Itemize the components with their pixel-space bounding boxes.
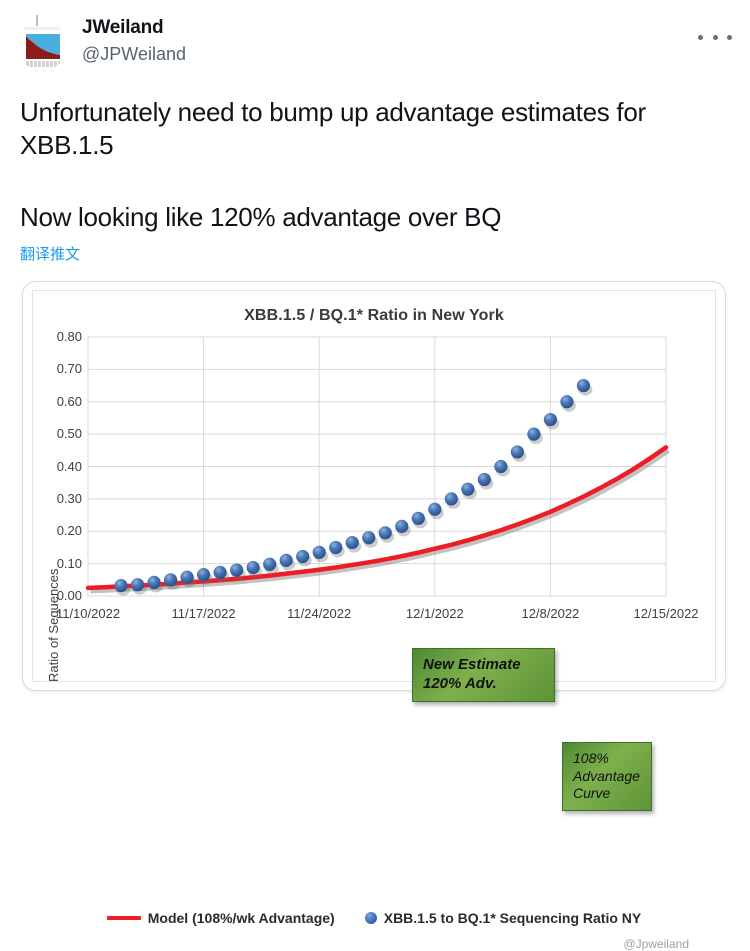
data-point xyxy=(147,576,160,589)
annotation-advantage-curve-line-1: 108% xyxy=(573,750,641,768)
tweet-header: JWeiland @JPWeiland xyxy=(0,0,750,70)
data-point xyxy=(461,483,474,496)
data-point xyxy=(560,395,573,408)
data-point xyxy=(478,473,491,486)
annotation-advantage-curve-line-2: Advantage xyxy=(573,768,641,786)
dot-2 xyxy=(713,35,718,40)
data-point xyxy=(527,428,540,441)
data-point xyxy=(346,536,359,549)
data-point xyxy=(362,531,375,544)
tweet-post: JWeiland @JPWeiland Unfortunately need t… xyxy=(0,0,750,264)
data-point xyxy=(412,512,425,525)
data-point xyxy=(329,541,342,554)
legend-label-sequencing-ratio: XBB.1.5 to BQ.1* Sequencing Ratio NY xyxy=(384,910,642,926)
data-point xyxy=(114,579,127,592)
data-point xyxy=(131,578,144,591)
y-tick-label: 0.20 xyxy=(30,523,82,538)
tweet-text-line-1: Unfortunately need to bump up advantage … xyxy=(20,96,728,163)
legend-line-icon xyxy=(107,916,141,920)
author-names: JWeiland @JPWeiland xyxy=(82,14,186,65)
data-point xyxy=(379,526,392,539)
y-tick-label: 0.00 xyxy=(30,588,82,603)
x-tick-label: 11/24/2022 xyxy=(287,606,351,621)
data-point xyxy=(428,503,441,516)
more-horizontal-icon[interactable] xyxy=(698,28,732,46)
data-point xyxy=(280,554,293,567)
handle[interactable]: @JPWeiland xyxy=(82,43,186,66)
dot-1 xyxy=(698,35,703,40)
data-point xyxy=(494,460,507,473)
x-tick-label: 11/10/2022 xyxy=(56,606,120,621)
dot-3 xyxy=(727,35,732,40)
avatar-chart-image xyxy=(14,14,70,70)
data-point xyxy=(247,561,260,574)
annotation-new-estimate-line-1: New Estimate xyxy=(423,656,544,675)
legend-item-model: Model (108%/wk Advantage) xyxy=(107,910,335,926)
data-point xyxy=(511,445,524,458)
data-point xyxy=(313,546,326,559)
data-point xyxy=(445,492,458,505)
data-point xyxy=(296,550,309,563)
chart-plot xyxy=(23,282,727,692)
legend-label-model: Model (108%/wk Advantage) xyxy=(148,910,335,926)
data-point xyxy=(180,571,193,584)
annotation-advantage-curve: 108% Advantage Curve xyxy=(562,742,652,811)
data-point xyxy=(263,558,276,571)
x-tick-label: 12/8/2022 xyxy=(521,606,579,621)
avatar[interactable] xyxy=(14,14,70,70)
legend-item-sequencing-ratio: XBB.1.5 to BQ.1* Sequencing Ratio NY xyxy=(365,910,642,926)
translate-tweet-link[interactable]: 翻译推文 xyxy=(20,243,80,264)
data-point xyxy=(395,520,408,533)
x-tick-label: 11/17/2022 xyxy=(172,606,236,621)
data-point xyxy=(230,564,243,577)
data-point xyxy=(577,379,590,392)
y-tick-label: 0.30 xyxy=(30,491,82,506)
legend-dot-icon xyxy=(365,912,377,924)
annotation-new-estimate: New Estimate 120% Adv. xyxy=(412,648,555,702)
chart-watermark: @Jpweiland xyxy=(623,937,689,951)
data-point xyxy=(544,413,557,426)
annotation-advantage-curve-line-3: Curve xyxy=(573,785,641,803)
x-tick-label: 12/15/2022 xyxy=(633,606,698,621)
data-point xyxy=(214,566,227,579)
chart-card: XBB.1.5 / BQ.1* Ratio in New York Ratio … xyxy=(22,281,726,691)
chart-legend: Model (108%/wk Advantage) XBB.1.5 to BQ.… xyxy=(23,910,725,926)
x-tick-label: 12/1/2022 xyxy=(406,606,464,621)
y-tick-label: 0.70 xyxy=(30,361,82,376)
y-tick-label: 0.10 xyxy=(30,556,82,571)
y-tick-label: 0.40 xyxy=(30,459,82,474)
y-tick-label: 0.60 xyxy=(30,394,82,409)
y-tick-label: 0.80 xyxy=(30,329,82,344)
annotation-new-estimate-line-2: 120% Adv. xyxy=(423,675,544,694)
tweet-text-line-2: Now looking like 120% advantage over BQ xyxy=(20,201,728,234)
tweet-body: Unfortunately need to bump up advantage … xyxy=(0,96,750,264)
display-name[interactable]: JWeiland xyxy=(82,16,186,40)
y-tick-label: 0.50 xyxy=(30,426,82,441)
data-point xyxy=(164,573,177,586)
data-point xyxy=(197,568,210,581)
grid-lines xyxy=(88,337,666,596)
